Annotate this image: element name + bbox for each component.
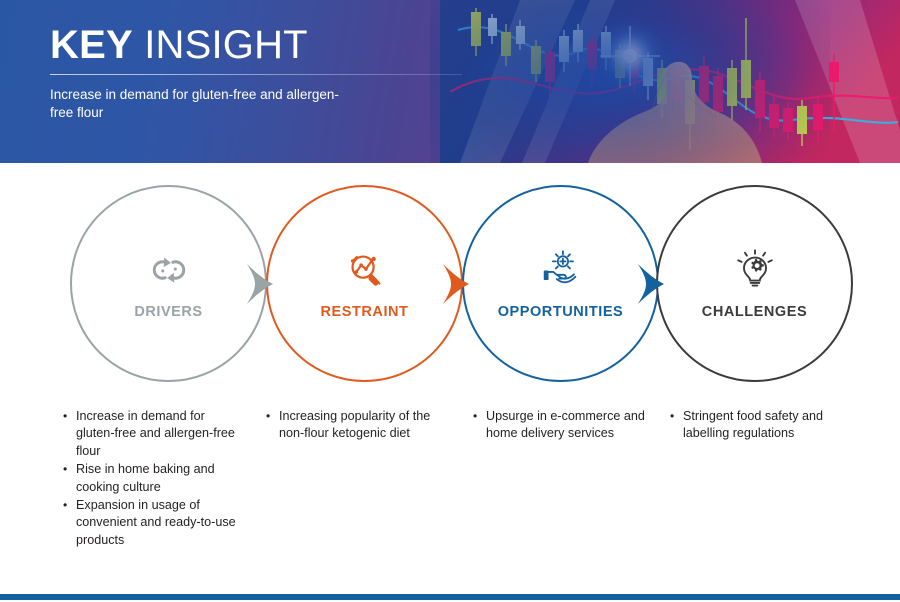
lightbulb-gear-icon — [732, 248, 778, 292]
bullet-column-drivers: Increase in demand for gluten-free and a… — [63, 408, 238, 550]
footer-accent-bar — [0, 594, 900, 600]
bullet-list-opportunities: Upsurge in e-commerce and home delivery … — [473, 408, 653, 443]
bullet-list-restraint: Increasing popularity of the non-flour k… — [266, 408, 446, 443]
bullet-column-opportunities: Upsurge in e-commerce and home delivery … — [473, 408, 653, 444]
bullet-column-challenges: Stringent food safety and labelling regu… — [670, 408, 855, 444]
magnifier-chart-icon — [342, 248, 388, 292]
flow-node-label-drivers: DRIVERS — [134, 304, 202, 320]
flow-node-label-restraint: RESTRAINT — [321, 304, 409, 320]
page-subtitle: Increase in demand for gluten-free and a… — [50, 86, 350, 122]
flow-diagram: DRIVERS — [0, 163, 900, 403]
cycle-arrows-icon — [146, 248, 192, 292]
flow-node-label-opportunities: OPPORTUNITIES — [498, 304, 624, 320]
bullet-column-restraint: Increasing popularity of the non-flour k… — [266, 408, 446, 444]
list-item: Expansion in usage of convenient and rea… — [63, 497, 238, 549]
header-artwork — [440, 0, 900, 163]
arrow-opportunities-to-challenges — [634, 264, 668, 304]
flow-node-drivers[interactable]: DRIVERS — [70, 185, 267, 382]
list-item: Rise in home baking and cooking culture — [63, 461, 238, 496]
page-title: KEY INSIGHT — [50, 22, 480, 68]
list-item: Increase in demand for gluten-free and a… — [63, 408, 238, 460]
header-banner: KEY INSIGHT Increase in demand for glute… — [0, 0, 900, 163]
bullet-list-challenges: Stringent food safety and labelling regu… — [670, 408, 855, 443]
candlestick-stock-chart-with-hand — [440, 0, 900, 163]
bullet-list-drivers: Increase in demand for gluten-free and a… — [63, 408, 238, 549]
page-title-bold: KEY — [50, 23, 133, 67]
flow-node-challenges[interactable]: CHALLENGES — [656, 185, 853, 382]
title-divider — [50, 74, 462, 75]
header-text-block: KEY INSIGHT Increase in demand for glute… — [50, 22, 480, 122]
hand-sun-plus-icon — [538, 248, 584, 292]
flow-node-opportunities[interactable]: OPPORTUNITIES — [462, 185, 659, 382]
flow-node-restraint[interactable]: RESTRAINT — [266, 185, 463, 382]
list-item: Stringent food safety and labelling regu… — [670, 408, 855, 443]
page-title-light: INSIGHT — [144, 23, 308, 67]
list-item: Increasing popularity of the non-flour k… — [266, 408, 446, 443]
list-item: Upsurge in e-commerce and home delivery … — [473, 408, 653, 443]
bullet-columns: Increase in demand for gluten-free and a… — [0, 408, 900, 578]
flow-node-label-challenges: CHALLENGES — [702, 304, 807, 320]
arrow-drivers-to-restraint — [243, 264, 277, 304]
arrow-restraint-to-opportunities — [439, 264, 473, 304]
